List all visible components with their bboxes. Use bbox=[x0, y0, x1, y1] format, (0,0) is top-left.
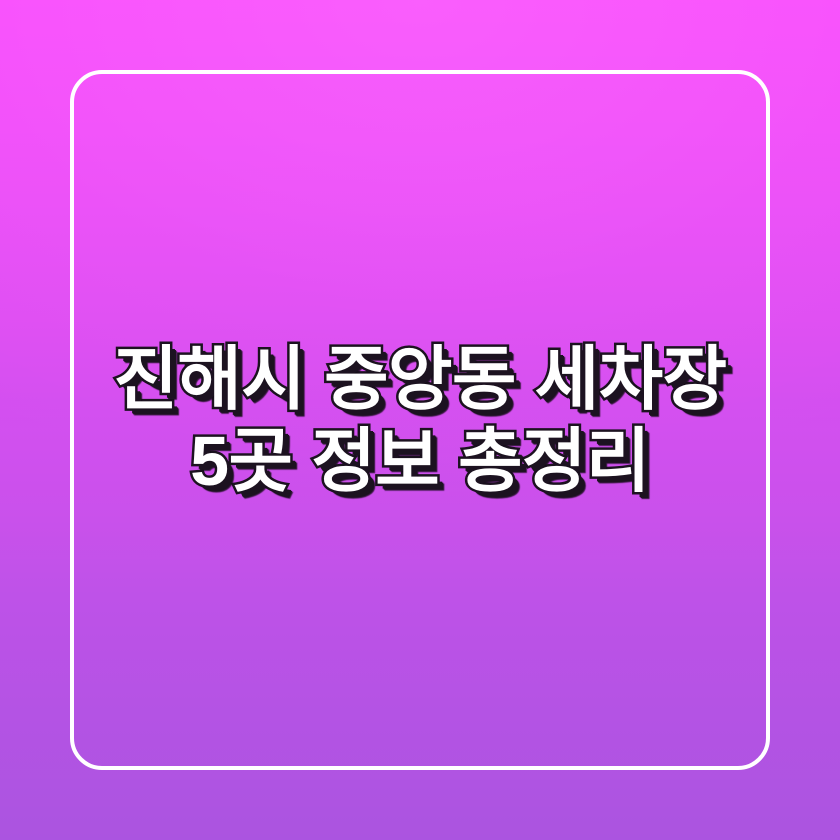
thumbnail-card: 진해시 중앙동 세차장 5곳 정보 총정리 bbox=[0, 0, 840, 840]
title-line-1: 진해시 중앙동 세차장 bbox=[0, 338, 840, 420]
title-block: 진해시 중앙동 세차장 5곳 정보 총정리 bbox=[0, 338, 840, 502]
gradient-sheen-overlay bbox=[0, 0, 840, 840]
title-line-2: 5곳 정보 총정리 bbox=[0, 420, 840, 502]
inner-border-frame bbox=[70, 70, 770, 770]
